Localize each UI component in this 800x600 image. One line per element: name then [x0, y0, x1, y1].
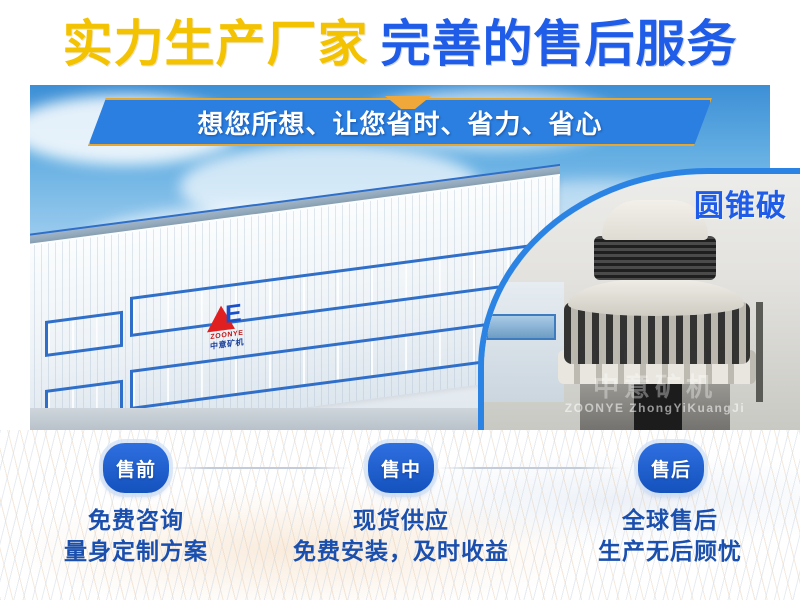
step-text-during-sale: 现货供应 免费安装，及时收益: [290, 505, 512, 567]
step-badge-pre-sale[interactable]: 售前: [103, 443, 169, 493]
step-line-1: 免费咨询: [36, 505, 236, 535]
step-line-2: 量身定制方案: [36, 535, 236, 567]
step-badge-during-sale[interactable]: 售中: [368, 443, 434, 493]
utility-pole: [756, 302, 763, 402]
page-title: 实力生产厂家完善的售后服务: [0, 8, 800, 80]
product-label: 圆锥破: [694, 181, 787, 225]
background-building-window: [486, 314, 556, 340]
crusher-shoulder: [568, 278, 744, 316]
headline-main: 完善的售后服务: [381, 8, 738, 80]
step-line-2: 生产无后顾忧: [570, 535, 770, 567]
logo-letter-icon: E: [225, 301, 242, 328]
step-badge-label: 售中: [381, 455, 421, 482]
company-logo: E ZOONYE 中意矿机: [195, 299, 259, 359]
crusher-base-shadow: [634, 380, 682, 430]
slogan-ribbon: 想您所想、让您省时、省力、省心: [88, 98, 712, 146]
ribbon-text: 想您所想、让您省时、省力、省心: [197, 104, 602, 141]
step-badge-label: 售后: [651, 455, 691, 482]
step-line-2: 免费安装，及时收益: [290, 535, 512, 567]
step-badge-label: 售前: [116, 455, 156, 482]
flow-connector-line: [168, 467, 350, 469]
headline-highlight: 实力生产厂家: [63, 8, 369, 80]
step-line-1: 现货供应: [290, 505, 512, 535]
step-text-after-sale: 全球售后 生产无后顾忧: [570, 505, 770, 567]
flow-connector-line: [438, 467, 620, 469]
promo-banner: 实力生产厂家完善的售后服务 E ZOONYE 中意矿机: [0, 0, 800, 600]
crusher-dark-band: [594, 236, 716, 280]
step-text-pre-sale: 免费咨询 量身定制方案: [36, 505, 236, 567]
step-line-1: 全球售后: [570, 505, 770, 535]
crusher-top-cap: [602, 200, 708, 240]
step-badge-after-sale[interactable]: 售后: [638, 443, 704, 493]
background-building: [480, 282, 564, 402]
